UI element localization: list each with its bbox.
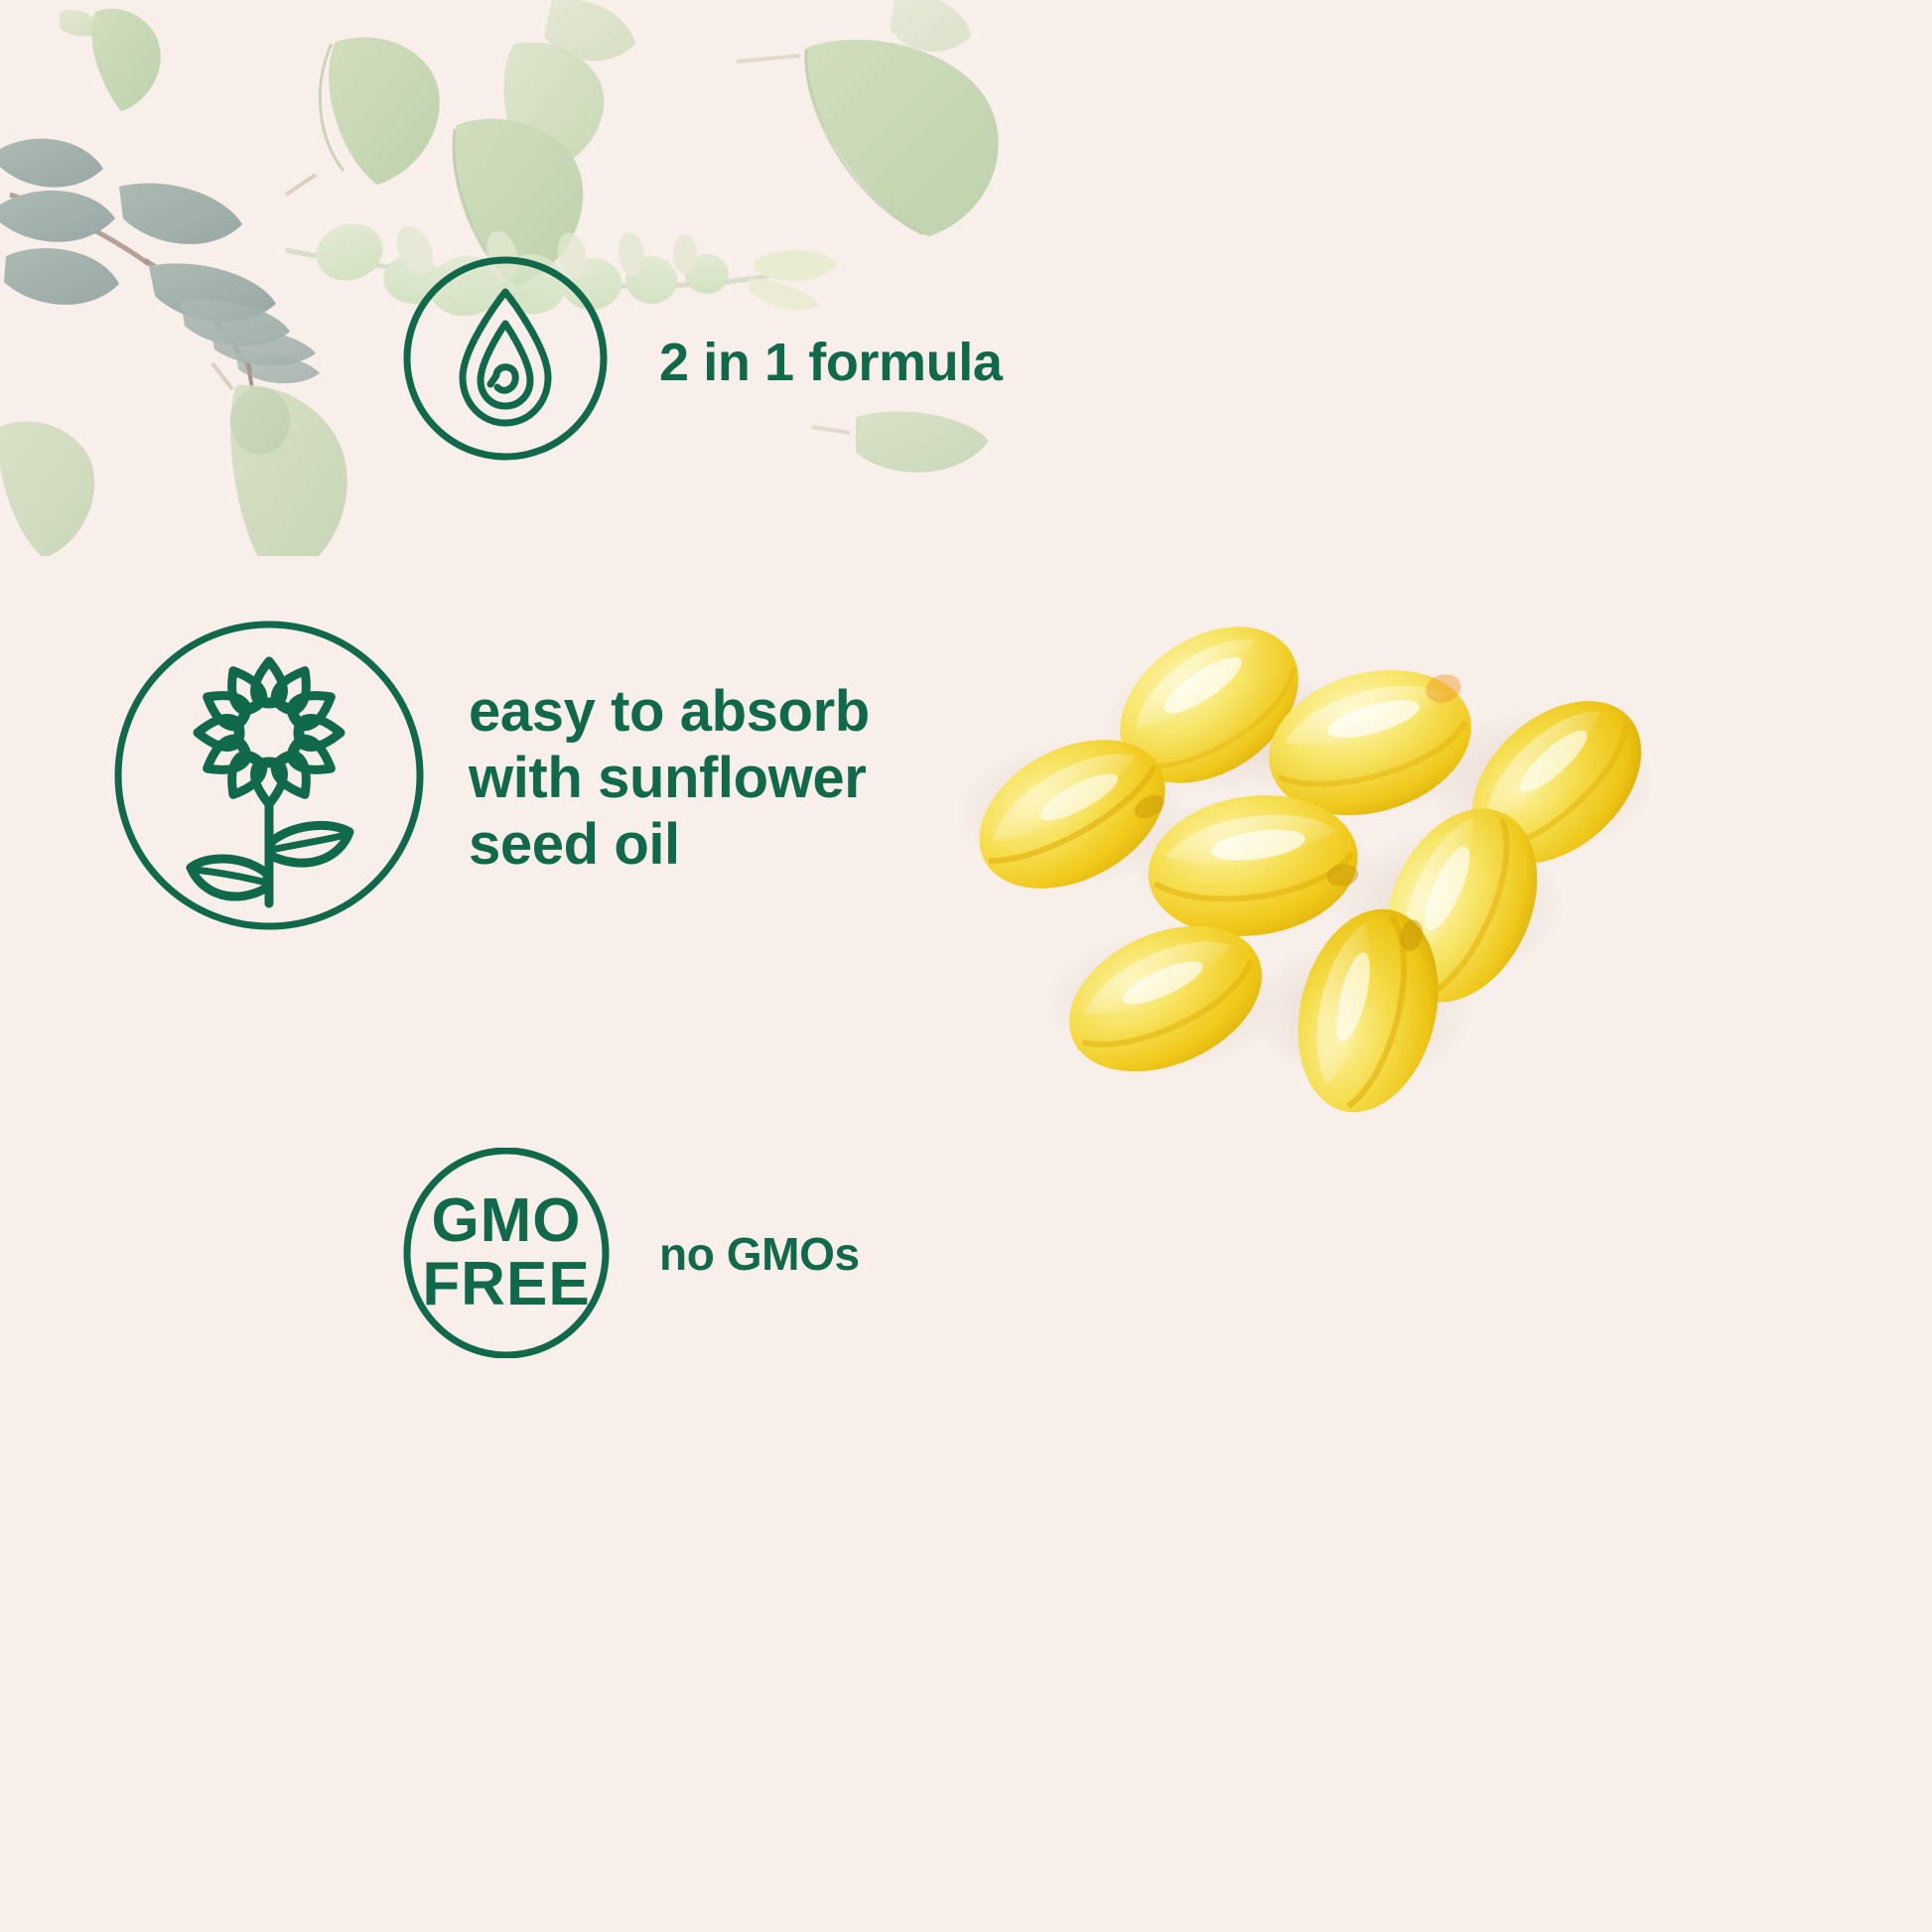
water-droplet-spiral-icon <box>401 254 610 463</box>
feature-label-formula: 2 in 1 formula <box>659 332 1002 395</box>
sunflower-icon <box>111 618 427 933</box>
promo-graphic: 2 in 1 formula <box>0 0 1932 1932</box>
softgel-capsules-image <box>953 516 1847 1112</box>
gmo-badge-line-2: FREE <box>422 1254 590 1315</box>
feature-row-gmo: GMO FREE no GMOs <box>401 1148 860 1358</box>
feature-row-formula: 2 in 1 formula <box>401 254 1002 468</box>
feature-label-gmo: no GMOs <box>659 1227 860 1281</box>
gmo-badge-line-1: GMO <box>431 1190 581 1252</box>
feature-label-absorb: easy to absorb with sunflower seed oil <box>469 678 870 879</box>
feature-row-absorb: easy to absorb with sunflower seed oil <box>111 618 870 938</box>
gmo-free-badge: GMO FREE <box>401 1148 612 1358</box>
gmo-free-text: GMO FREE <box>401 1148 612 1358</box>
droplet-badge <box>401 254 610 468</box>
sunflower-badge <box>111 618 427 938</box>
